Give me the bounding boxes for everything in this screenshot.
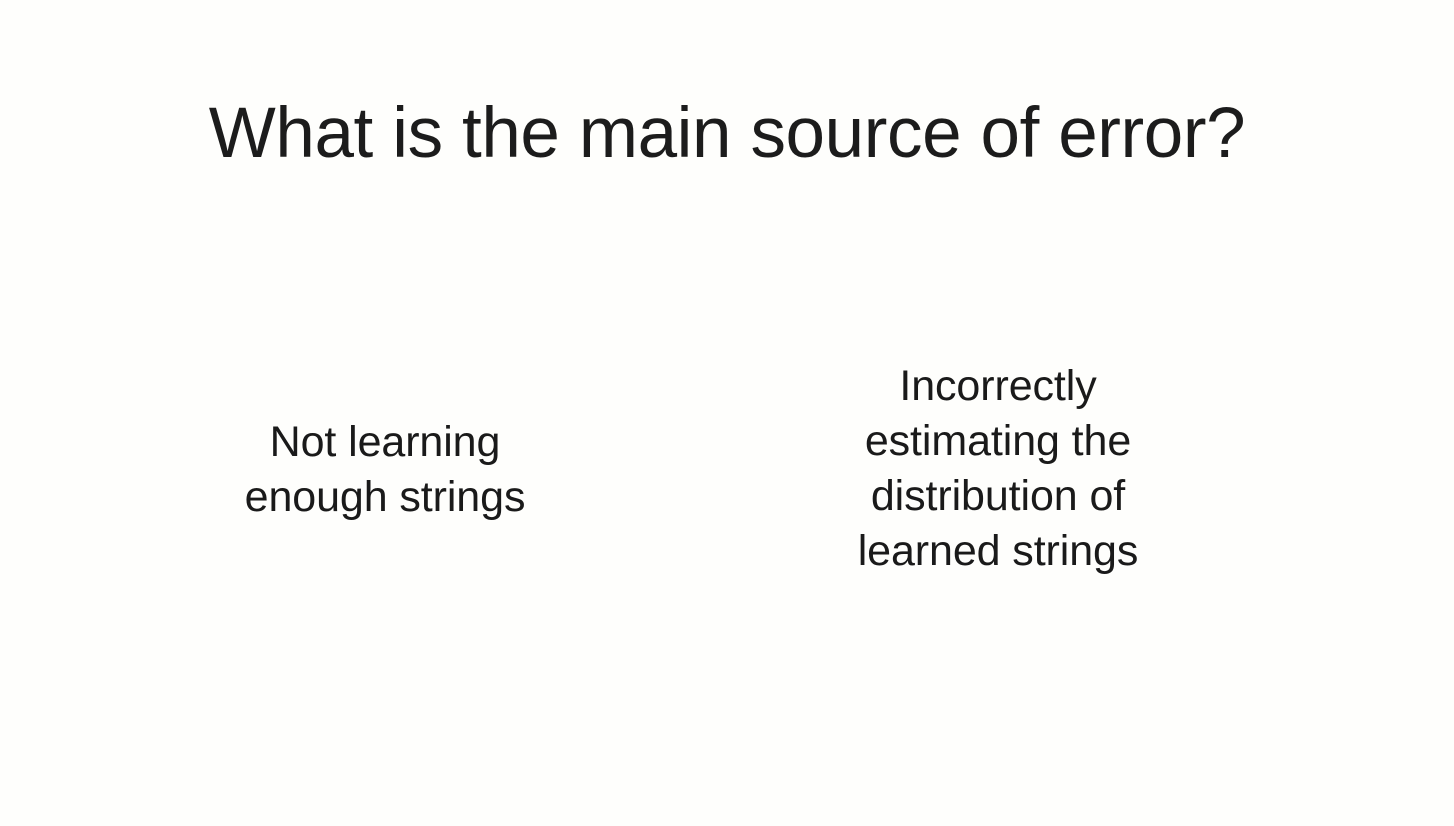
answer-option-right-line: estimating the [798,414,1198,469]
answer-option-right-line: Incorrectly [798,359,1198,414]
answer-option-left-line: enough strings [185,470,585,525]
answer-option-right-line: distribution of [798,469,1198,524]
answer-option-right: Incorrectly estimating the distribution … [798,359,1198,579]
answer-option-left: Not learning enough strings [185,415,585,525]
answer-option-right-line: learned strings [798,524,1198,579]
slide-title: What is the main source of error? [0,92,1454,176]
slide-canvas: What is the main source of error? Not le… [0,0,1454,826]
answer-option-left-line: Not learning [185,415,585,470]
